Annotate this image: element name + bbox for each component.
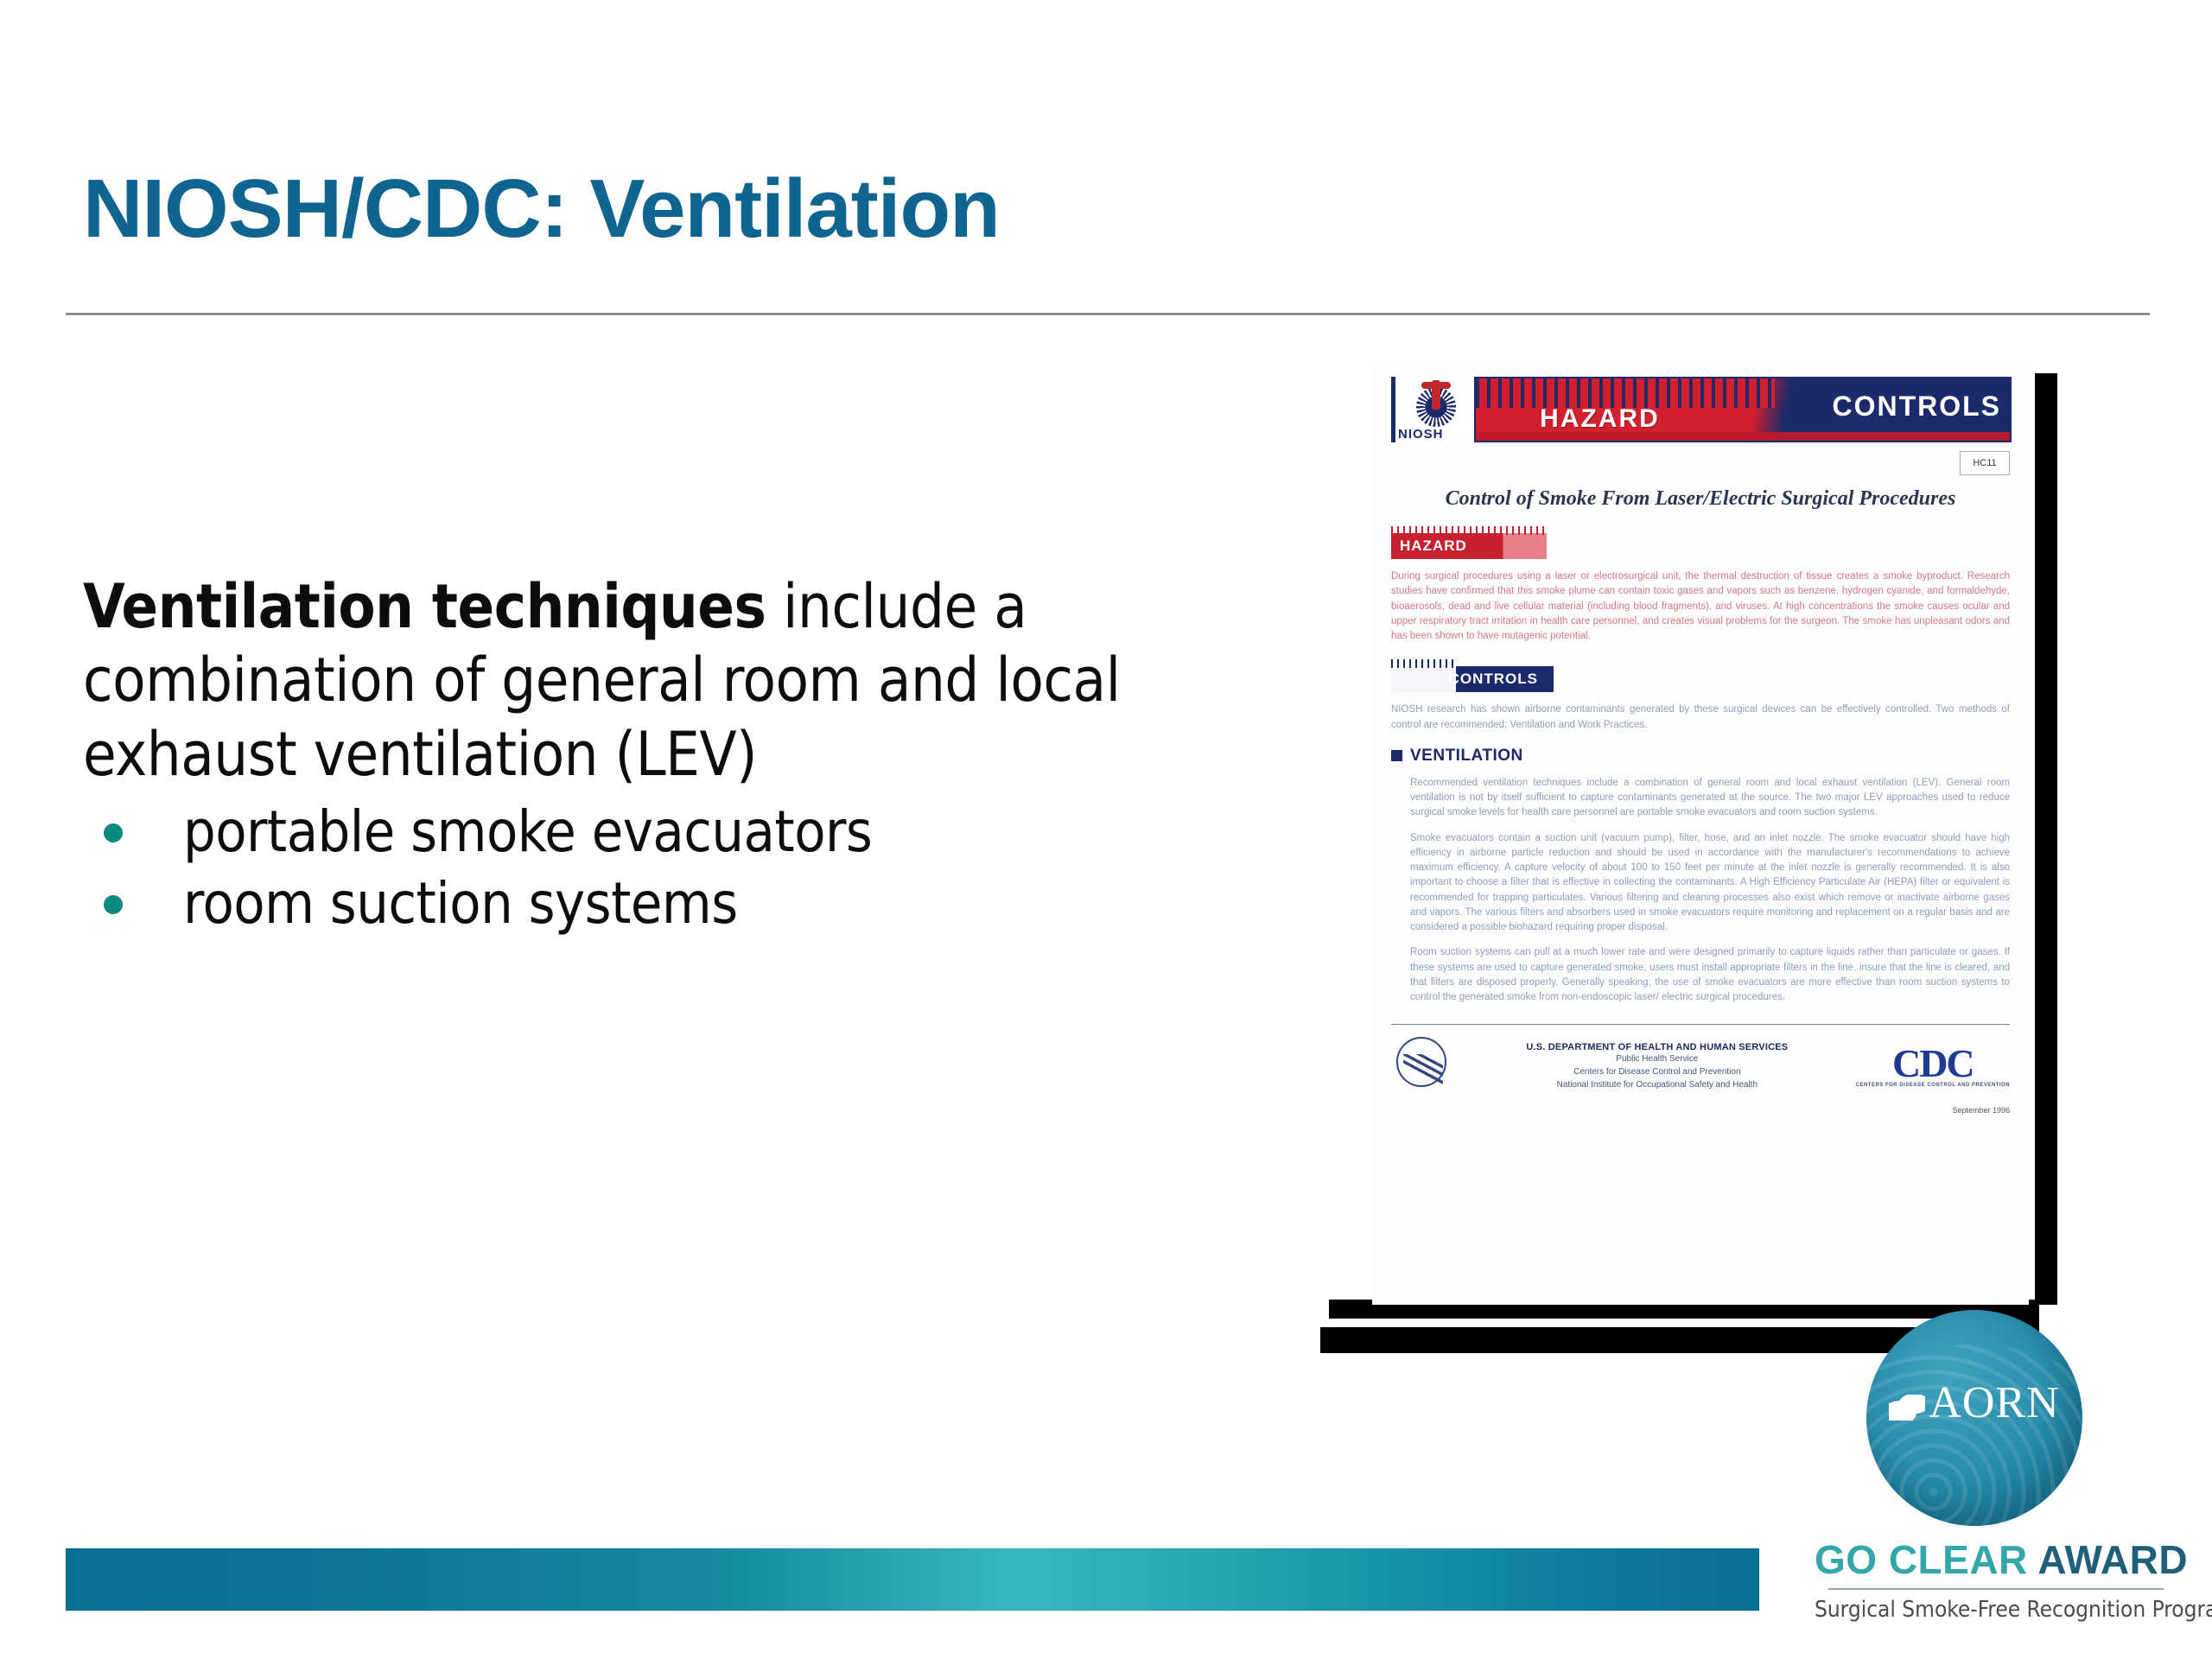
hazard-paragraph: During surgical procedures using a laser… [1391,569,2010,644]
cdc-wordmark: CDC [1892,1041,1974,1085]
aorn-bird-icon [1889,1395,1925,1421]
controls-tab-label: CONTROLS [1449,671,1538,688]
document-footer: U.S. DEPARTMENT OF HEALTH AND HUMAN SERV… [1391,1024,2010,1097]
hhs-line-2: Public Health Service [1472,1052,1842,1065]
page-title: NIOSH/CDC: Ventilation [83,166,1000,253]
footer-gradient-bar [66,1548,1759,1611]
hhs-agency-text: U.S. DEPARTMENT OF HEALTH AND HUMAN SERV… [1472,1042,1842,1091]
bullet-dot-icon [104,823,123,842]
ventilation-paragraph-1: Recommended ventilation techniques inclu… [1410,776,2010,821]
controls-section-tab: CONTROLS [1391,666,1554,692]
go-clear-award-text: GO CLEAR AWARD [1815,1536,2177,1583]
aorn-wordmark: AORN [1929,1378,2059,1427]
document-banner: NIOSH HAZARD CONTROLS [1391,377,2012,442]
banner-controls-label: CONTROLS [1832,391,2001,423]
hhs-line-3: Centers for Disease Control and Preventi… [1472,1065,1842,1078]
ventilation-paragraph-2: Smoke evacuators contain a suction unit … [1410,831,2010,936]
hhs-bird-icon [1403,1054,1443,1089]
cdc-sub-label: CENTERS FOR DISEASE CONTROL AND PREVENTI… [1856,1084,2010,1089]
hhs-line-1: U.S. DEPARTMENT OF HEALTH AND HUMAN SERV… [1472,1042,1842,1052]
hazard-controls-banner: HAZARD CONTROLS [1474,377,2012,442]
niosh-hazard-controls-document: NIOSH HAZARD CONTROLS HC11 Control of Sm… [1372,363,2029,1305]
document-shadow-right [2035,373,2057,1305]
lead-paragraph: Ventilation techniques include a combina… [83,570,1310,791]
bullet-dot-icon [104,895,123,914]
list-item: room suction systems [83,868,1310,940]
niosh-wordmark: NIOSH [1398,427,1444,442]
controls-intro-paragraph: NIOSH research has shown airborne contam… [1391,702,2010,733]
aorn-go-clear-logo: AORN GO CLEAR AWARD Surgical Smoke-Free … [1815,1310,2177,1647]
caduceus-icon [1432,380,1440,410]
banner-hazard-label: HAZARD [1540,404,1660,434]
ventilation-paragraph-3: Room suction systems can pull at a much … [1410,945,2010,1005]
lead-bold-text: Ventilation techniques [83,571,766,642]
swirl-texture-icon [1866,1344,2082,1526]
aorn-badge-icon: AORN [1866,1310,2082,1526]
document-date: September 1996 [1391,1106,2010,1115]
logo-divider [1828,1588,2164,1590]
ventilation-heading-label: VENTILATION [1410,747,1523,766]
go-clear-words: GO CLEAR [1815,1537,2028,1582]
list-item: portable smoke evacuators [83,797,1310,868]
document-id-badge: HC11 [1960,451,2010,475]
spike-pattern-icon [1391,526,1547,535]
slide-canvas: NIOSH/CDC: Ventilation Ventilation techn… [0,0,2212,1659]
document-title: Control of Smoke From Laser/Electric Sur… [1391,487,2010,511]
body-content: Ventilation techniques include a combina… [83,570,1310,939]
ventilation-heading: VENTILATION [1391,747,2010,766]
hazard-section-tab: HAZARD [1391,533,1547,559]
aorn-wordmark-row: AORN [1866,1377,2082,1428]
drip-pattern-icon [1476,378,1775,408]
square-bullet-icon [1391,750,1402,761]
award-word: AWARD [2028,1537,2188,1582]
list-item-label: room suction systems [183,870,738,937]
spike-pattern-icon [1391,659,1456,668]
logo-tagline: Surgical Smoke-Free Recognition Program [1815,1597,2177,1623]
list-item-label: portable smoke evacuators [183,798,872,865]
hhs-line-4: National Institute for Occupational Safe… [1472,1078,1842,1091]
hhs-seal-icon [1391,1035,1459,1097]
hazard-tab-label: HAZARD [1400,537,1467,555]
bullet-list: portable smoke evacuators room suction s… [83,797,1310,939]
title-divider [66,313,2150,315]
niosh-logo-icon: NIOSH [1391,377,1474,442]
cdc-logo: CDC CENTERS FOR DISEASE CONTROL AND PREV… [1856,1045,2010,1089]
